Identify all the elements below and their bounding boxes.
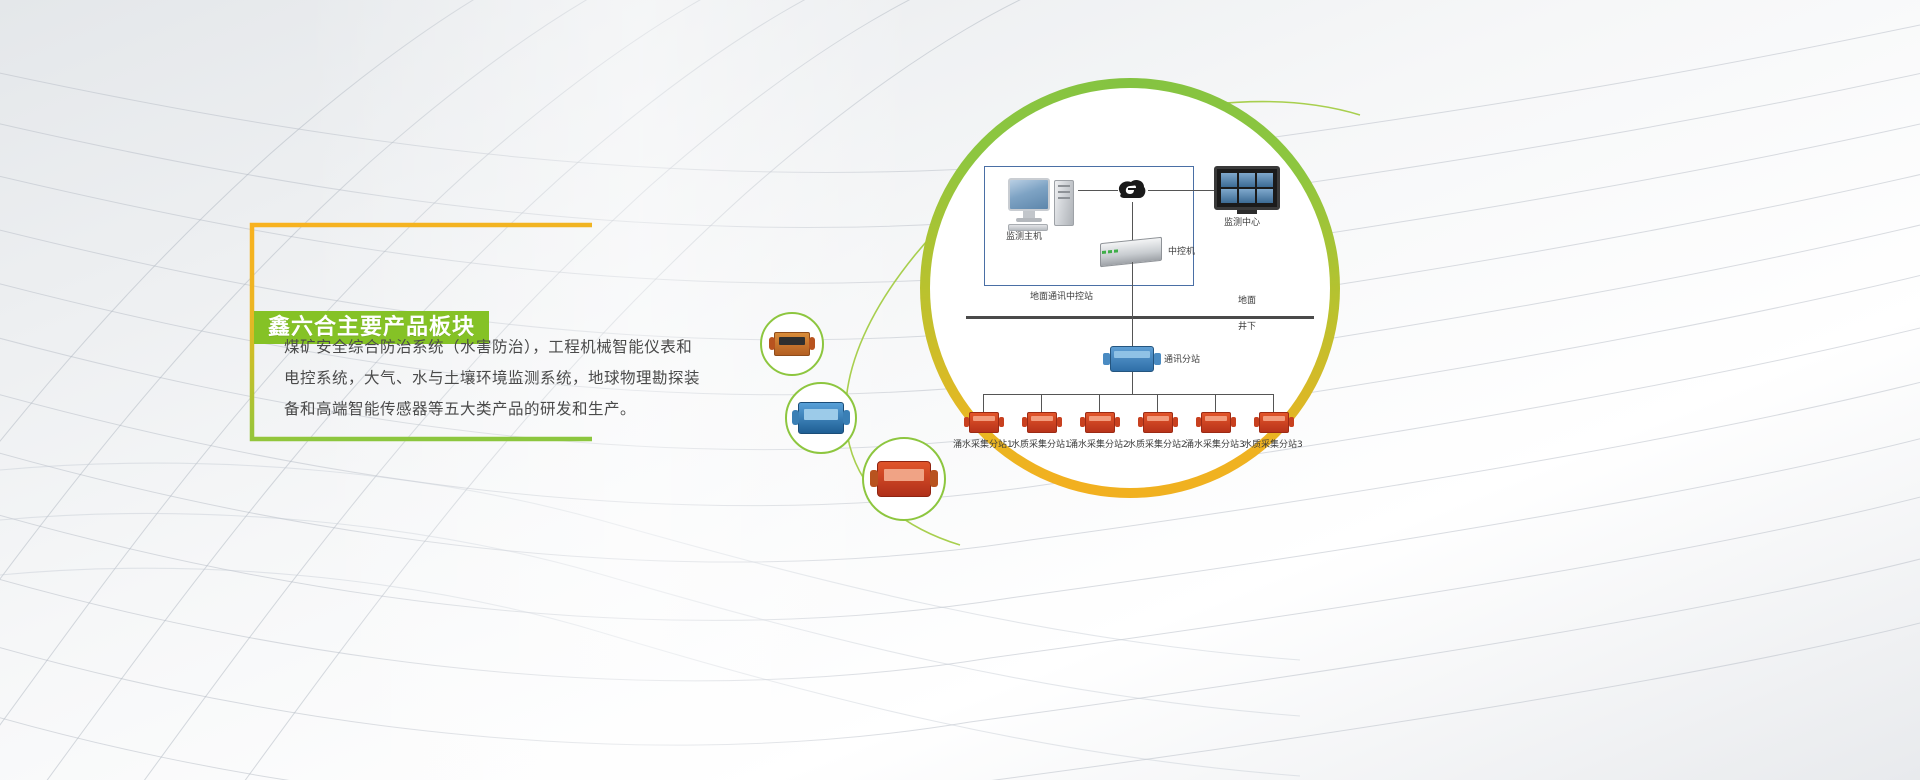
- station-drop: [1273, 394, 1274, 412]
- station-ear: [1022, 417, 1027, 427]
- red-device-icon: [877, 461, 931, 497]
- station-label: 水质采集分站1: [1011, 440, 1071, 451]
- red-collection-box-icon: [1259, 412, 1289, 433]
- station-ear: [1173, 417, 1178, 427]
- red-collection-box-icon: [1201, 412, 1231, 433]
- product-bubble-blue[interactable]: [785, 382, 857, 454]
- link-controller-substation: [1132, 262, 1133, 348]
- label-controller: 中控机: [1168, 247, 1195, 258]
- red-collection-box-icon: [1085, 412, 1115, 433]
- red-collection-box-icon: [1027, 412, 1057, 433]
- station-label: 水质采集分站2: [1127, 440, 1187, 451]
- station-label: 涌水采集分站2: [1069, 440, 1129, 451]
- station-ear: [1138, 417, 1143, 427]
- station-ear: [1196, 417, 1201, 427]
- orange-device-icon: [774, 332, 810, 356]
- station-ear: [1057, 417, 1062, 427]
- station-ear: [1254, 417, 1259, 427]
- substation-ear-left: [1103, 353, 1110, 365]
- station-drop: [1041, 394, 1042, 412]
- banner-stage: 鑫六合主要产品板块 煤矿安全综合防治系统（水害防治），工程机械智能仪表和 电控系…: [0, 0, 1920, 780]
- bus-horizontal: [983, 394, 1273, 395]
- station-drop: [1215, 394, 1216, 412]
- station-ear: [964, 417, 969, 427]
- station-label: 水质采集分站3: [1243, 440, 1303, 451]
- station-label: 涌水采集分站1: [953, 440, 1013, 451]
- link-host-cloud: [1078, 190, 1118, 191]
- station-drop: [983, 394, 984, 412]
- monitor-wall-stand: [1237, 210, 1257, 214]
- network-diagram: 监测主机 监测中心 中控机 地面通讯中控站 地面 井下: [952, 150, 1324, 480]
- link-cloud-center: [1148, 190, 1218, 191]
- link-cloud-controller: [1132, 202, 1133, 240]
- station-ear: [999, 417, 1004, 427]
- body-line-3: 备和高端智能传感器等五大类产品的研发和生产。: [284, 394, 704, 425]
- red-collection-box-icon: [1143, 412, 1173, 433]
- station-drop: [1099, 394, 1100, 412]
- product-bubble-red[interactable]: [862, 437, 946, 521]
- blue-communication-box-icon: [1110, 346, 1154, 372]
- label-substation: 通讯分站: [1164, 355, 1200, 366]
- red-collection-box-icon: [969, 412, 999, 433]
- label-host: 监测主机: [1006, 232, 1042, 243]
- panel-body-text: 煤矿安全综合防治系统（水害防治），工程机械智能仪表和 电控系统，大气、水与土壤环…: [284, 332, 704, 425]
- desktop-computer-icon: [1008, 178, 1050, 231]
- ground-divider: [966, 316, 1314, 319]
- bus-drop: [1132, 372, 1133, 394]
- pc-tower-icon: [1054, 180, 1074, 226]
- substation-ear-right: [1154, 353, 1161, 365]
- monitor-wall-icon: [1214, 166, 1280, 210]
- station-ear: [1231, 417, 1236, 427]
- station-ear: [1080, 417, 1085, 427]
- station-ear: [1289, 417, 1294, 427]
- label-underground: 井下: [1238, 322, 1256, 333]
- station-label: 涌水采集分站3: [1185, 440, 1245, 451]
- blue-device-icon: [798, 402, 844, 434]
- e-cloud-icon: [1117, 178, 1147, 204]
- station-drop: [1157, 394, 1158, 412]
- body-line-2: 电控系统，大气、水与土壤环境监测系统，地球物理勘探装: [284, 363, 704, 394]
- label-ground-station: 地面通讯中控站: [1030, 292, 1093, 303]
- product-bubble-orange[interactable]: [760, 312, 824, 376]
- label-center: 监测中心: [1224, 218, 1260, 229]
- body-line-1: 煤矿安全综合防治系统（水害防治），工程机械智能仪表和: [284, 332, 704, 363]
- label-ground: 地面: [1238, 296, 1256, 307]
- station-ear: [1115, 417, 1120, 427]
